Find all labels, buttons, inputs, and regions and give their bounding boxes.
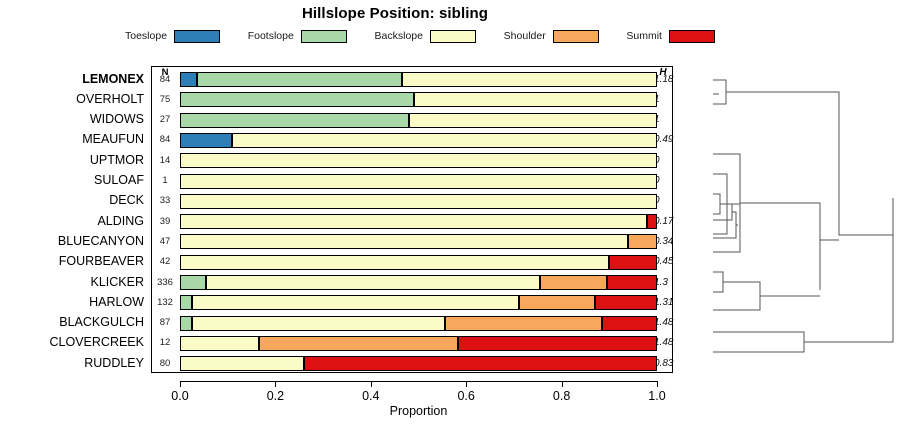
x-axis-tick [657,381,658,387]
bar-segment-summit [607,275,657,290]
bar-segment-footslope [180,92,414,107]
dendrogram [680,60,900,380]
bar-segment-footslope [180,275,206,290]
bar-row [180,174,657,189]
bar-segment-backslope [192,295,519,310]
bar-segment-summit [647,214,657,229]
bar-row [180,336,657,351]
bar-row [180,295,657,310]
x-axis-tick [466,381,467,387]
bar-segment-shoulder [259,336,458,351]
x-axis-tick-label: 0.4 [348,389,394,403]
bar-segment-shoulder [519,295,595,310]
chart-root: Hillslope Position: sibling ToeslopeFoot… [0,0,900,440]
bar-segment-footslope [197,72,402,87]
bar-row [180,133,657,148]
bar-segment-backslope [180,255,609,270]
x-axis-tick-label: 0.8 [539,389,585,403]
bar-row [180,214,657,229]
bar-row [180,275,657,290]
bar-segment-backslope [206,275,540,290]
bar-segment-footslope [180,316,192,331]
bar-segment-toeslope [180,72,197,87]
bar-segment-summit [609,255,657,270]
bar-segment-shoulder [540,275,607,290]
bar-segment-summit [602,316,657,331]
bar-segment-footslope [180,113,409,128]
bar-row [180,255,657,270]
bar-segment-backslope [180,336,259,351]
bar-segment-backslope [180,356,304,371]
bar-segment-summit [304,356,657,371]
bar-segment-backslope [180,214,647,229]
bar-row [180,316,657,331]
x-axis-tick [562,381,563,387]
bar-segment-backslope [232,133,657,148]
x-axis-tick-label: 0.2 [252,389,298,403]
x-axis-title: Proportion [180,404,657,418]
bar-segment-shoulder [628,234,657,249]
x-axis-tick [275,381,276,387]
bar-segment-backslope [409,113,657,128]
bar-row [180,356,657,371]
bar-row [180,92,657,107]
bar-segment-toeslope [180,133,232,148]
bar-segment-summit [458,336,657,351]
bar-segment-shoulder [445,316,602,331]
bar-row [180,234,657,249]
bar-segment-backslope [180,234,628,249]
x-axis-line [180,381,657,382]
x-axis-tick-label: 0.0 [157,389,203,403]
bar-segment-backslope [180,153,657,168]
bar-row [180,194,657,209]
bar-segment-backslope [402,72,657,87]
bar-row [180,72,657,87]
bar-segment-footslope [180,295,192,310]
bar-row [180,153,657,168]
bar-segment-summit [595,295,657,310]
x-axis-tick-label: 1.0 [634,389,680,403]
x-axis-tick-label: 0.6 [443,389,489,403]
dendrogram-svg [680,60,900,380]
bar-segment-backslope [414,92,657,107]
bar-segment-backslope [192,316,445,331]
bar-segment-backslope [180,174,657,189]
bar-row [180,113,657,128]
bar-segment-backslope [180,194,657,209]
x-axis-tick [180,381,181,387]
x-axis-tick [371,381,372,387]
